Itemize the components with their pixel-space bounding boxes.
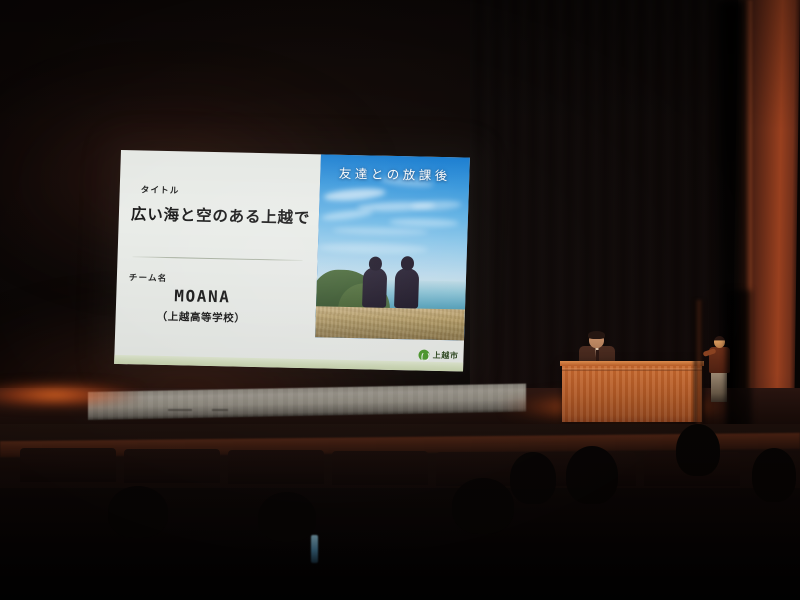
curtain-gap bbox=[694, 300, 704, 440]
slide-photo: 友達との放課後 bbox=[315, 154, 470, 340]
audience-head-silhouette bbox=[510, 452, 556, 504]
seat-back bbox=[228, 450, 324, 484]
stage-floor-mark bbox=[168, 409, 192, 411]
audience-head-silhouette bbox=[258, 492, 316, 542]
audience-head-silhouette bbox=[752, 448, 796, 502]
cloud-icon bbox=[318, 242, 428, 254]
leaf-circle-icon bbox=[419, 350, 430, 361]
staff-legs bbox=[711, 372, 727, 402]
presenter-tie bbox=[596, 350, 599, 361]
audience-head-silhouette bbox=[108, 486, 168, 538]
photo-stone-wall-texture bbox=[315, 306, 465, 340]
slide-team-school: （上越高等学校） bbox=[156, 309, 245, 326]
audience-head-silhouette bbox=[566, 446, 618, 504]
cloud-icon bbox=[321, 208, 374, 222]
photo-student-head bbox=[401, 256, 414, 270]
slide-text-column: タイトル 広い海と空のある上越で チーム名 MOANA （上越高等学校） bbox=[114, 150, 321, 368]
slide-team-name: MOANA bbox=[174, 286, 231, 306]
podium bbox=[562, 362, 702, 422]
seat-back bbox=[20, 448, 116, 482]
presentation-slide: タイトル 広い海と空のある上越で チーム名 MOANA （上越高等学校） bbox=[114, 150, 470, 372]
slide-divider bbox=[133, 256, 303, 261]
auditorium-scene: タイトル 広い海と空のある上越で チーム名 MOANA （上越高等学校） bbox=[0, 0, 800, 600]
audience-head-silhouette bbox=[676, 424, 720, 476]
presenter-hair bbox=[588, 331, 605, 339]
seat-back bbox=[332, 451, 428, 485]
podium-wood-grain bbox=[562, 362, 702, 422]
photo-student-head bbox=[369, 256, 382, 270]
slide-title-kicker: タイトル bbox=[141, 183, 180, 196]
seat-indicator-light bbox=[311, 535, 318, 563]
cloud-icon bbox=[389, 218, 459, 228]
stage-light-flare-left bbox=[0, 382, 140, 408]
curtain-shadow-right bbox=[726, 290, 752, 440]
projection-screen: タイトル 広い海と空のある上越で チーム名 MOANA （上越高等学校） bbox=[114, 150, 470, 372]
stage-floor-mark bbox=[212, 409, 228, 411]
cloud-icon bbox=[332, 227, 428, 236]
slide-footer-logo: 上越市 bbox=[419, 350, 459, 362]
photo-student-left bbox=[362, 267, 387, 308]
podium-top-edge bbox=[560, 361, 704, 366]
cloud-icon bbox=[323, 187, 386, 203]
slide-title: 広い海と空のある上越で bbox=[131, 202, 311, 228]
audience-head-silhouette bbox=[452, 478, 514, 534]
photo-student-right bbox=[394, 268, 419, 309]
slide-footer-logo-text: 上越市 bbox=[433, 350, 459, 362]
photo-caption: 友達との放課後 bbox=[320, 162, 470, 184]
podium-rail bbox=[562, 368, 702, 371]
seat-back bbox=[124, 449, 220, 483]
slide-team-kicker: チーム名 bbox=[129, 271, 168, 284]
staff-head bbox=[714, 336, 725, 348]
